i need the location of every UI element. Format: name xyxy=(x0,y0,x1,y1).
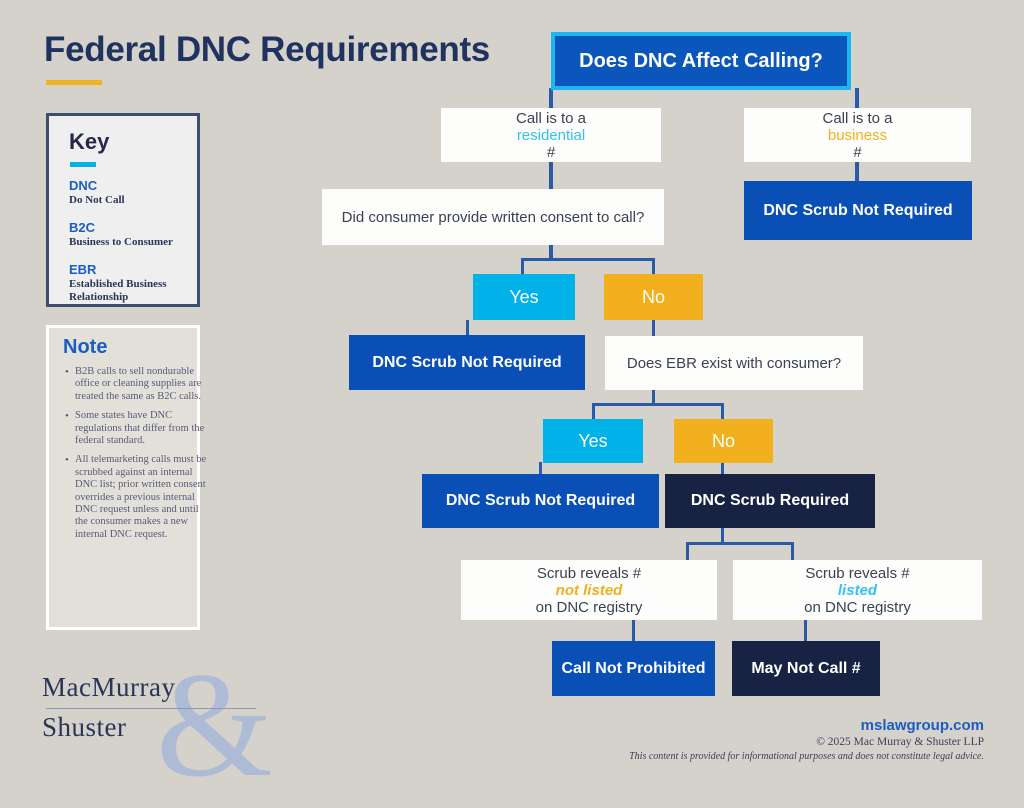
node-listed-outcome[interactable]: May Not Call # xyxy=(732,641,880,696)
connector-ebr-to-yes xyxy=(592,403,595,420)
residential-suffix: # xyxy=(508,144,594,161)
node-not-listed-outcome-label: Call Not Prohibited xyxy=(554,660,714,678)
node-ebr-yes[interactable]: Yes xyxy=(543,419,643,463)
node-ebr-question-label: Does EBR exist with consumer? xyxy=(619,355,849,372)
title-underline-rule xyxy=(46,80,102,85)
logo-line-two: Shuster xyxy=(42,712,127,743)
node-root-question-label: Does DNC Affect Calling? xyxy=(571,50,831,73)
node-ebr-no[interactable]: No xyxy=(674,419,773,463)
node-business-outcome-label: DNC Scrub Not Required xyxy=(755,202,960,220)
footer-disclaimer: This content is provided for information… xyxy=(524,750,984,764)
node-ebr-no-outcome[interactable]: DNC Scrub Required xyxy=(665,474,875,528)
connector-scrub-split-horizontal xyxy=(686,542,794,545)
connector-scrub-to-not-listed xyxy=(686,542,689,561)
key-abbr-b2c: B2C xyxy=(69,220,199,235)
node-scrub-not-listed-label: Scrub reveals # not listed on DNC regist… xyxy=(520,565,659,616)
logo-murray: Murray xyxy=(91,672,175,702)
not-listed-suffix: on DNC registry xyxy=(528,599,651,616)
note-bullet-list: B2B calls to sell nondurable office or c… xyxy=(61,366,207,548)
node-not-listed-outcome[interactable]: Call Not Prohibited xyxy=(552,641,715,696)
key-legend-box: Key DNC Do Not Call B2C Business to Cons… xyxy=(46,113,200,307)
business-prefix: Call is to a xyxy=(814,110,900,127)
note-bullet: All telemarketing calls must be scrubbed… xyxy=(75,454,207,541)
residential-prefix: Call is to a xyxy=(508,110,594,127)
node-consent-no[interactable]: No xyxy=(604,274,703,320)
listed-prefix: Scrub reveals # xyxy=(796,565,919,582)
connector-consent-no-to-ebr xyxy=(652,320,655,336)
connector-listed-to-outcome xyxy=(804,619,807,641)
node-ebr-no-label: No xyxy=(704,431,743,452)
key-heading: Key xyxy=(69,129,109,155)
node-listed-outcome-label: May Not Call # xyxy=(743,660,868,678)
key-entry-dnc: DNC Do Not Call xyxy=(69,178,199,207)
node-consent-yes-outcome[interactable]: DNC Scrub Not Required xyxy=(349,335,585,390)
footer-copyright: © 2025 Mac Murray & Shuster LLP xyxy=(524,735,984,750)
node-consent-question[interactable]: Did consumer provide written consent to … xyxy=(322,189,664,245)
connector-consent-to-no xyxy=(652,258,655,275)
note-box: Note B2B calls to sell nondurable office… xyxy=(46,325,200,630)
node-scrub-listed-label: Scrub reveals # listed on DNC registry xyxy=(788,565,927,616)
key-def-b2c: Business to Consumer xyxy=(69,236,199,249)
logo-mac: Mac xyxy=(42,672,91,702)
node-root-question[interactable]: Does DNC Affect Calling? xyxy=(551,32,851,90)
residential-highlight: residential xyxy=(508,127,594,144)
connector-business-to-outcome xyxy=(855,162,859,181)
connector-scrub-to-listed xyxy=(791,542,794,561)
node-scrub-not-listed[interactable]: Scrub reveals # not listed on DNC regist… xyxy=(461,560,717,620)
node-consent-yes[interactable]: Yes xyxy=(473,274,575,320)
logo-divider xyxy=(46,708,256,709)
connector-not-listed-to-outcome xyxy=(632,619,635,641)
listed-highlight: listed xyxy=(796,582,919,599)
business-suffix: # xyxy=(814,144,900,161)
note-heading: Note xyxy=(63,336,107,359)
key-def-ebr: Established Business Relationship xyxy=(69,278,199,304)
node-ebr-yes-label: Yes xyxy=(570,431,615,452)
node-residential-branch-label: Call is to a residential # xyxy=(500,110,602,161)
key-def-dnc: Do Not Call xyxy=(69,194,199,207)
connector-consent-to-yes xyxy=(521,258,524,275)
node-business-outcome[interactable]: DNC Scrub Not Required xyxy=(744,181,972,240)
footer: mslawgroup.com © 2025 Mac Murray & Shust… xyxy=(524,716,984,764)
connector-ebr-split-horizontal xyxy=(592,403,723,406)
note-bullet: B2B calls to sell nondurable office or c… xyxy=(75,366,207,403)
node-consent-question-label: Did consumer provide written consent to … xyxy=(334,209,653,226)
footer-website-link[interactable]: mslawgroup.com xyxy=(524,716,984,735)
not-listed-prefix: Scrub reveals # xyxy=(528,565,651,582)
node-scrub-listed[interactable]: Scrub reveals # listed on DNC registry xyxy=(733,560,982,620)
node-consent-no-label: No xyxy=(634,287,673,308)
node-ebr-question[interactable]: Does EBR exist with consumer? xyxy=(605,336,863,390)
connector-residential-to-consent xyxy=(549,162,553,189)
node-business-branch[interactable]: Call is to a business # xyxy=(744,108,971,162)
node-ebr-no-outcome-label: DNC Scrub Required xyxy=(683,492,857,510)
node-business-branch-label: Call is to a business # xyxy=(806,110,908,161)
page-title: Federal DNC Requirements xyxy=(44,30,490,70)
node-ebr-yes-outcome[interactable]: DNC Scrub Not Required xyxy=(422,474,659,528)
node-consent-yes-outcome-label: DNC Scrub Not Required xyxy=(364,354,569,372)
connector-consent-yes-to-outcome xyxy=(466,320,469,335)
node-residential-branch[interactable]: Call is to a residential # xyxy=(441,108,661,162)
key-abbr-ebr: EBR xyxy=(69,262,199,277)
infographic-canvas: Federal DNC Requirements Key DNC Do Not … xyxy=(0,0,1024,791)
connector-consent-split-horizontal xyxy=(521,258,655,261)
node-ebr-yes-outcome-label: DNC Scrub Not Required xyxy=(438,492,643,510)
logo-line-one: MacMurray xyxy=(42,672,175,703)
key-abbr-dnc: DNC xyxy=(69,178,199,193)
key-entry-ebr: EBR Established Business Relationship xyxy=(69,262,199,304)
connector-ebr-to-no xyxy=(721,403,724,420)
not-listed-highlight: not listed xyxy=(528,582,651,599)
listed-suffix: on DNC registry xyxy=(796,599,919,616)
key-underline-rule xyxy=(70,162,96,167)
key-entry-b2c: B2C Business to Consumer xyxy=(69,220,199,249)
node-consent-yes-label: Yes xyxy=(501,287,546,308)
note-bullet: Some states have DNC regulations that di… xyxy=(75,410,207,447)
company-logo: & MacMurray Shuster xyxy=(38,660,268,765)
business-highlight: business xyxy=(814,127,900,144)
